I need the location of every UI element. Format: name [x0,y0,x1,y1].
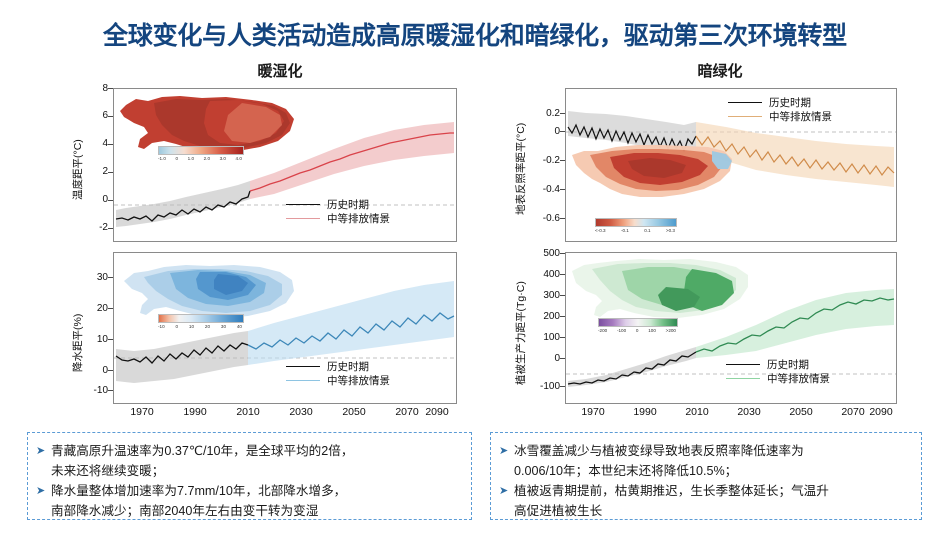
xtick-left: 1990 [170,406,220,418]
ytick-mark [560,113,565,114]
xtick-right: 2050 [776,406,826,418]
colorbar-tick: 0 [636,328,639,334]
summary-box-left: ➤ 青藏高原升温速率为0.37℃/10年，是全球平均的2倍， 未来还将继续变暖；… [27,432,472,520]
ytick-mark [108,390,113,391]
legend-swatch-historical [728,102,762,103]
plot-area-temperature: 历史时期 中等排放情景 [113,88,457,242]
legend-label-scenario: 中等排放情景 [327,211,390,226]
xtick-right: 2030 [724,406,774,418]
colorbar-albedo: <-0.3 -0.1 0.1 >0.3 [595,218,675,234]
colorbar-tick: >0.3 [666,228,675,234]
legend-precipitation: 历史时期 中等排放情景 [286,359,390,387]
temperature-plot-svg [114,89,456,241]
note-text-cont: 未来还将继续变暖； [36,461,463,481]
colorbar-ticks-albedo: <-0.3 -0.1 0.1 >0.3 [595,228,675,234]
colorbar-tick: -200 [598,328,607,334]
legend-label-historical: 历史时期 [767,357,809,372]
ytick-temperature: 2 [88,166,108,177]
ytick-npp: 500 [528,248,560,259]
ytick-mark [560,316,565,317]
legend-row-historical: 历史时期 [728,95,832,109]
ytick-mark [108,370,113,371]
legend-swatch-historical [286,204,320,205]
column-heading-right: 暗绿化 [620,60,820,81]
ytick-mark [108,308,113,309]
inset-map-npp [572,259,748,318]
ytick-mark [560,274,565,275]
note-item: ➤ 植被返青期提前，枯黄期推迟，生长季整体延长；气温升 [499,481,913,501]
colorbar-tick: 40 [237,324,242,330]
bullet-arrow-icon: ➤ [499,441,514,461]
ytick-temperature: 8 [88,83,108,94]
legend-swatch-scenario [726,378,760,379]
legend-row-historical: 历史时期 [286,359,390,373]
colorbar-gradient-albedo [595,218,677,227]
ytick-npp: 400 [528,269,560,280]
colorbar-tick: 3.0 [220,156,226,162]
colorbar-tick: 30 [221,324,226,330]
colorbar-precipitation: -10 0 10 20 30 40 [158,314,242,330]
legend-row-scenario: 中等排放情景 [726,371,830,385]
ytick-mark [560,295,565,296]
ytick-mark [560,337,565,338]
ytick-mark [108,200,113,201]
xtick-left: 2090 [412,406,462,418]
note-item: ➤ 青藏高原升温速率为0.37℃/10年，是全球平均的2倍， [36,441,463,461]
legend-label-scenario: 中等排放情景 [327,373,390,388]
colorbar-ticks-precipitation: -10 0 10 20 30 40 [158,324,242,330]
legend-label-historical: 历史时期 [327,359,369,374]
note-text: 植被返青期提前，枯黄期推迟，生长季整体延长；气温升 [514,481,913,501]
colorbar-tick: 0.1 [644,228,650,234]
ytick-temperature: 0 [88,194,108,205]
ytick-albedo: 0 [532,126,560,137]
colorbar-tick: 2.0 [204,156,210,162]
legend-swatch-historical [726,364,760,365]
note-text: 降水量整体增加速率为7.7mm/10年，北部降水增多， [51,481,463,501]
ytick-precipitation: -10 [84,385,108,396]
colorbar-tick: 20 [205,324,210,330]
ytick-npp: 300 [528,290,560,301]
legend-swatch-scenario [286,380,320,381]
xtick-left: 1970 [117,406,167,418]
ytick-npp: 100 [528,332,560,343]
note-text-cont: 0.006/10年；本世纪末还将降低10.5%； [499,461,913,481]
xtick-right: 2090 [856,406,906,418]
colorbar-tick: 1.0 [188,156,194,162]
note-text-cont: 南部降水减少；南部2040年左右由变干转为变湿 [36,501,463,521]
colorbar-npp: -200 -100 0 100 >200 [598,318,676,334]
column-heading-left: 暖湿化 [180,60,380,81]
ytick-mark [560,131,565,132]
legend-label-scenario: 中等排放情景 [769,109,832,124]
colorbar-gradient-npp [598,318,678,327]
note-text: 青藏高原升温速率为0.37℃/10年，是全球平均的2倍， [51,441,463,461]
legend-row-scenario: 中等排放情景 [286,373,390,387]
xtick-left: 2010 [223,406,273,418]
axis-label-albedo: 地表反照率距平(°C) [513,123,528,215]
page-title: 全球变化与人类活动造成高原暖湿化和暗绿化，驱动第三次环境转型 [0,16,950,52]
colorbar-tick: >200 [666,328,676,334]
slide-root: 全球变化与人类活动造成高原暖湿化和暗绿化，驱动第三次环境转型 暖湿化 暗绿化 温… [0,0,950,533]
inset-map-temperature [120,96,294,152]
bullet-arrow-icon: ➤ [36,481,51,501]
ytick-mark [560,253,565,254]
legend-swatch-scenario [286,218,320,219]
legend-row-scenario: 中等排放情景 [728,109,832,123]
ytick-mark [560,160,565,161]
colorbar-tick: 100 [648,328,656,334]
colorbar-tick: <-0.3 [595,228,606,234]
note-item: ➤ 冰雪覆盖减少与植被变绿导致地表反照率降低速率为 [499,441,913,461]
ytick-npp: 0 [528,353,560,364]
xtick-left: 2030 [276,406,326,418]
ytick-mark [108,116,113,117]
ytick-mark [560,358,565,359]
ytick-albedo: -0.4 [532,184,560,195]
ytick-mark [560,218,565,219]
colorbar-tick: 0 [176,156,179,162]
colorbar-tick: 10 [189,324,194,330]
colorbar-tick: 0 [176,324,179,330]
legend-label-historical: 历史时期 [769,95,811,110]
summary-box-right: ➤ 冰雪覆盖减少与植被变绿导致地表反照率降低速率为 0.006/10年；本世纪末… [490,432,922,520]
ytick-precipitation: 10 [84,334,108,345]
xtick-left: 2050 [329,406,379,418]
colorbar-temperature: -1.0 0 1.0 2.0 3.0 4.0 [158,146,242,162]
ytick-mark [108,228,113,229]
inset-map-albedo [572,145,732,197]
colorbar-tick: 4.0 [236,156,242,162]
xtick-right: 1990 [620,406,670,418]
ytick-npp: -100 [528,381,560,392]
colorbar-gradient-temperature [158,146,244,155]
legend-albedo: 历史时期 中等排放情景 [728,95,832,123]
legend-row-historical: 历史时期 [286,197,390,211]
legend-label-scenario: 中等排放情景 [767,371,830,386]
axis-label-npp: 植被生产力距平(Tg·C) [513,281,528,385]
ytick-mark [108,172,113,173]
ytick-precipitation: 30 [84,272,108,283]
ytick-temperature: 6 [88,110,108,121]
note-text: 冰雪覆盖减少与植被变绿导致地表反照率降低速率为 [514,441,913,461]
ytick-precipitation: 0 [84,365,108,376]
colorbar-ticks-npp: -200 -100 0 100 >200 [598,328,676,334]
ytick-mark [560,189,565,190]
xtick-right: 1970 [568,406,618,418]
legend-npp: 历史时期 中等排放情景 [726,357,830,385]
axis-label-temperature: 温度距平(°C) [70,139,85,200]
note-item: ➤ 降水量整体增加速率为7.7mm/10年，北部降水增多， [36,481,463,501]
axis-label-precipitation: 降水距平(%) [70,314,85,372]
ytick-albedo: -0.6 [532,213,560,224]
colorbar-ticks-temperature: -1.0 0 1.0 2.0 3.0 4.0 [158,156,242,162]
ytick-temperature: -2 [88,222,108,233]
ytick-mark [108,339,113,340]
note-text-cont: 高促进植被生长 [499,501,913,521]
legend-swatch-scenario [728,116,762,117]
ytick-precipitation: 20 [84,303,108,314]
bullet-arrow-icon: ➤ [36,441,51,461]
inset-map-precipitation [124,265,294,318]
ytick-mark [108,144,113,145]
ytick-albedo: -0.2 [532,155,560,166]
ytick-npp: 200 [528,311,560,322]
ytick-albedo: 0.2 [532,108,560,119]
ytick-mark [108,88,113,89]
ytick-mark [560,386,565,387]
legend-swatch-historical [286,366,320,367]
colorbar-tick: -0.1 [621,228,629,234]
colorbar-gradient-precipitation [158,314,244,323]
legend-label-historical: 历史时期 [327,197,369,212]
colorbar-tick: -10 [158,324,165,330]
ytick-temperature: 4 [88,138,108,149]
colorbar-tick: -1.0 [158,156,166,162]
legend-temperature: 历史时期 中等排放情景 [286,197,390,225]
legend-row-scenario: 中等排放情景 [286,211,390,225]
bullet-arrow-icon: ➤ [499,481,514,501]
xtick-right: 2010 [672,406,722,418]
ytick-mark [108,277,113,278]
colorbar-tick: -100 [617,328,626,334]
legend-row-historical: 历史时期 [726,357,830,371]
